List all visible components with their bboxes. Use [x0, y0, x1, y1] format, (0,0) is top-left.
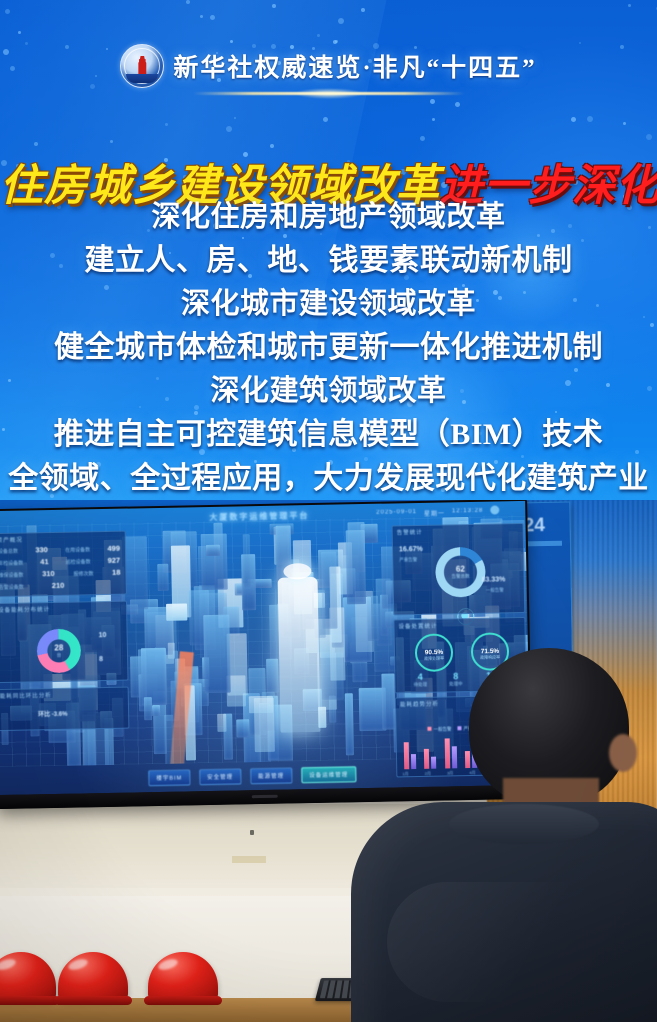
poster-line-3: 深化城市建设领域改革	[0, 283, 657, 326]
hard-hat-brim	[144, 996, 222, 1005]
asset-row: 维保设备数310报修次数18	[0, 568, 120, 579]
hard-hat-shell	[0, 952, 56, 1000]
energy-distribution-title: 设备能耗分布统计	[0, 605, 50, 614]
alarm-statistics-title: 告警统计	[397, 528, 423, 536]
dashboard-nav-button[interactable]: 设备运维管理	[301, 766, 356, 783]
header-divider	[193, 92, 465, 95]
hard-hat-brim	[54, 996, 132, 1005]
poster-photo-composite: 新华社权威速览·非凡“十四五” 住房城乡建设领域改革进一步深化 深化住房和房地产…	[0, 0, 657, 1022]
user-avatar-icon[interactable]	[490, 505, 499, 514]
hard-hat[interactable]	[148, 952, 218, 1000]
asset-value: 310	[42, 569, 55, 578]
dashboard-nav-button[interactable]: 楼宇BIM	[148, 769, 190, 786]
asset-label-2: 巡检设备数	[66, 558, 91, 565]
asset-value-2: 18	[112, 568, 121, 577]
asset-value: 210	[52, 581, 65, 590]
poster-line-5: 深化建筑领域改革	[0, 370, 657, 413]
dashboard-nav-button[interactable]: 安全管理	[199, 768, 241, 785]
asset-overview-rows: 设备总数330在用设备数499年检设备数41巡检设备数927维保设备数310报修…	[0, 532, 125, 535]
poster-line-4: 健全城市体检和城市更新一体化推进机制	[0, 326, 657, 370]
poster-header-title: 新华社权威速览·非凡“十四五”	[173, 48, 536, 84]
donut-center-unit: 台	[37, 652, 81, 659]
energy-trend-panel[interactable]: 能耗同比环比分析 环比 -3.6%	[0, 687, 129, 732]
wall-tape-mark	[232, 856, 266, 863]
poster-line-7: 全领域、全过程应用，大力发展现代化建筑产业	[0, 457, 657, 501]
highlighted-tower-building[interactable]	[278, 577, 321, 733]
hard-hat[interactable]	[58, 952, 128, 1000]
person-viewing-screen	[357, 552, 657, 1022]
wall-screw	[250, 830, 254, 835]
donut-center-value-group: 28 台	[37, 643, 81, 659]
hard-hat[interactable]	[0, 952, 56, 1000]
poster-line-6: 推进自主可控建筑信息模型（BIM）技术	[0, 413, 657, 457]
poster-line-2: 建立人、房、地、钱要素联动新机制	[0, 239, 657, 283]
xinhua-agency-logo-icon	[120, 44, 164, 88]
poster-line-1: 深化住房和房地产领域改革	[0, 196, 657, 239]
asset-label-2: 在用设备数	[65, 546, 90, 553]
asset-row: 设备总数330在用设备数499	[0, 544, 120, 555]
energy-trend-title: 能耗同比环比分析	[0, 691, 52, 700]
side-panel-bar	[524, 541, 562, 547]
dashboard-nav[interactable]: 楼宇BIM安全管理能源管理设备运维管理	[148, 766, 356, 786]
logo-arc-band	[126, 74, 158, 83]
infographic-poster: 新华社权威速览·非凡“十四五” 住房城乡建设领域改革进一步深化 深化住房和房地产…	[0, 0, 657, 508]
hard-hat-shell	[58, 952, 128, 1000]
asset-label: 年检设备数	[0, 560, 23, 567]
poster-header: 新华社权威速览·非凡“十四五”	[0, 44, 657, 88]
hard-hat-shell	[148, 952, 218, 1000]
asset-overview-title: 资产概况	[0, 536, 23, 544]
person-ear	[609, 734, 637, 772]
energy-trend-note: 环比 -3.6%	[38, 709, 68, 719]
asset-value: 330	[35, 545, 48, 554]
asset-row: 告警设备数210	[0, 580, 121, 591]
photograph-area: 24 大厦数字运维管理平台 2025-09-01 星期一 12:13:28	[0, 500, 657, 1022]
asset-value-2: 927	[108, 556, 121, 565]
jacket-collar	[449, 804, 599, 844]
asset-overview-panel[interactable]: 资产概况 设备总数330在用设备数499年检设备数41巡检设备数927维保设备数…	[0, 531, 127, 598]
asset-row: 年检设备数41巡检设备数927	[0, 556, 120, 567]
hard-hat-brim	[0, 996, 60, 1005]
dashboard-nav-button[interactable]: 能源管理	[250, 767, 292, 784]
donut-side-value-1: 10	[99, 632, 107, 639]
asset-value-2: 499	[107, 544, 120, 553]
asset-label-2: 报修次数	[73, 570, 93, 577]
donut-side-value-2: 8	[99, 656, 103, 663]
jacket-highlight	[387, 882, 637, 1002]
poster-body-lines: 深化住房和房地产领域改革建立人、房、地、钱要素联动新机制深化城市建设领域改革健全…	[0, 196, 657, 501]
energy-distribution-panel[interactable]: 设备能耗分布统计 28 台 10 8	[0, 601, 128, 684]
asset-label: 维保设备数	[0, 572, 24, 579]
asset-label: 设备总数	[0, 548, 18, 555]
asset-value: 41	[40, 557, 49, 566]
asset-label: 告警设备数	[0, 584, 24, 591]
